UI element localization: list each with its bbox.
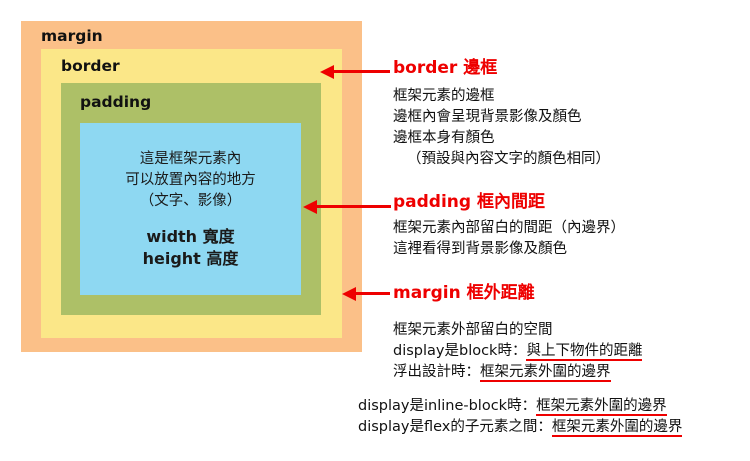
padding-annotation-line: 框架元素內部留白的間距（內邊界） — [393, 218, 625, 239]
border-annotation-title: border 邊框 — [393, 58, 610, 78]
padding-annotation-line: 這裡看得到背景影像及顏色 — [393, 239, 625, 260]
border-annotation-line: 框架元素的邊框 — [393, 86, 610, 107]
margin-layer: margin border padding 這是框架元素內 可以放置內容的地方 … — [21, 21, 362, 352]
extra-annotation: display是inline-block時：框架元素外圍的邊界 display是… — [358, 396, 682, 438]
margin-annotation-line: 浮出設計時：框架元素外圍的邊界 — [393, 362, 642, 383]
margin-line-plain: 浮出設計時： — [393, 364, 480, 380]
border-layer: border padding 這是框架元素內 可以放置內容的地方 （文字、影像）… — [41, 49, 342, 338]
border-annotation: border 邊框 框架元素的邊框 邊框內會呈現背景影像及顏色 邊框本身有顏色 … — [393, 58, 610, 170]
padding-annotation: padding 框內間距 框架元素內部留白的間距（內邊界） 這裡看得到背景影像及… — [393, 192, 625, 260]
margin-annotation-title: margin 框外距離 — [393, 283, 642, 303]
extra-annotation-line: display是flex的子元素之間：框架元素外圍的邊界 — [358, 417, 682, 438]
box-model-diagram: margin border padding 這是框架元素內 可以放置內容的地方 … — [21, 21, 362, 352]
padding-annotation-body: 框架元素內部留白的間距（內邊界） 這裡看得到背景影像及顏色 — [393, 218, 625, 260]
padding-annotation-title: padding 框內間距 — [393, 192, 625, 212]
padding-label: padding — [80, 95, 151, 111]
border-annotation-line: 邊框本身有顏色 — [393, 128, 610, 149]
margin-annotation-line: 框架元素外部留白的空間 — [393, 320, 642, 341]
extra-line-plain: display是flex的子元素之間： — [358, 419, 552, 435]
content-layer: 這是框架元素內 可以放置內容的地方 （文字、影像） width 寬度 heigh… — [80, 123, 301, 295]
margin-line-plain: display是block時： — [393, 343, 526, 359]
extra-line-underlined: 框架元素外圍的邊界 — [552, 419, 683, 437]
content-dimensions: width 寬度 height 高度 — [143, 226, 239, 270]
extra-line-underlined: 框架元素外圍的邊界 — [536, 398, 667, 416]
margin-line-underlined: 與上下物件的距離 — [526, 343, 642, 361]
content-width-label: width 寬度 — [143, 226, 239, 248]
border-annotation-line: 邊框內會呈現背景影像及顏色 — [393, 107, 610, 128]
extra-annotation-line: display是inline-block時：框架元素外圍的邊界 — [358, 396, 682, 417]
margin-line-plain: 框架元素外部留白的空間 — [393, 322, 553, 338]
content-height-label: height 高度 — [143, 248, 239, 270]
margin-line-underlined: 框架元素外圍的邊界 — [480, 364, 611, 382]
content-text-line-3: （文字、影像） — [140, 191, 242, 212]
margin-annotation-body: 框架元素外部留白的空間 display是block時：與上下物件的距離 浮出設計… — [393, 320, 642, 383]
border-annotation-line: （預設與內容文字的顏色相同） — [393, 149, 610, 170]
extra-line-plain: display是inline-block時： — [358, 398, 536, 414]
border-annotation-body: 框架元素的邊框 邊框內會呈現背景影像及顏色 邊框本身有顏色 （預設與內容文字的顏… — [393, 86, 610, 170]
padding-layer: padding 這是框架元素內 可以放置內容的地方 （文字、影像） width … — [61, 83, 321, 315]
margin-annotation-line: display是block時：與上下物件的距離 — [393, 341, 642, 362]
content-text-line-2: 可以放置內容的地方 — [125, 170, 256, 191]
content-text-line-1: 這是框架元素內 — [140, 149, 242, 170]
margin-annotation: margin 框外距離 框架元素外部留白的空間 display是block時：與… — [393, 283, 642, 383]
border-label: border — [61, 59, 120, 75]
margin-label: margin — [41, 29, 103, 45]
